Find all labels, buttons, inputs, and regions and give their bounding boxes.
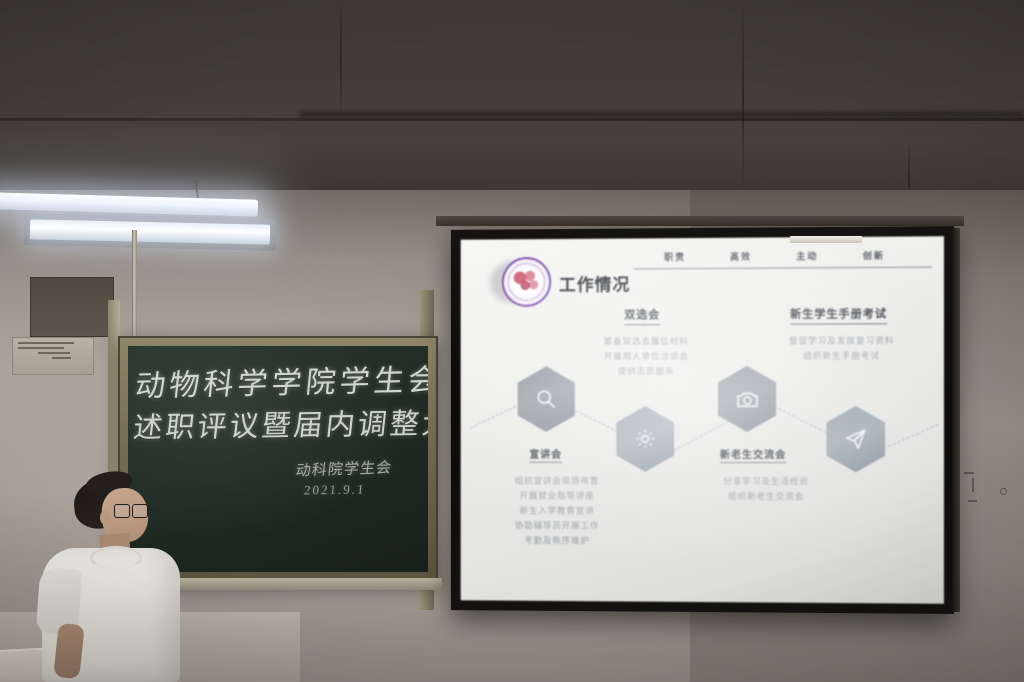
process-step-1-hex (518, 366, 575, 432)
slide-section-line: 开展就业指导讲座 (490, 488, 624, 503)
process-step-2-hex (616, 406, 674, 472)
presenter-collar (90, 546, 142, 570)
slide-process-row (461, 236, 944, 604)
wall-tick-mark (964, 472, 974, 474)
slide-lower-body-xinlaosheng: 分享学习及生活经验 组织新老生交流会 (698, 474, 835, 504)
process-step-4-hex (826, 406, 885, 472)
blackboard-title-line-1: 动物科学学院学生会 (133, 355, 428, 405)
wall-mark-dot (1000, 488, 1007, 495)
slide-section-line: 协助辅导员开展工作 (490, 518, 624, 533)
projection-screen-surface: 工作情况 职责 高效 主动 创新 双选会 筹备双选会展位材料 开展用人单位洽谈会… (461, 236, 944, 604)
blackboard-signature: 动科院学生会 (294, 456, 393, 480)
blackboard-title-line-2: 述职评议暨届内调整大会 (131, 400, 428, 447)
notice-text-line (52, 357, 72, 359)
slide-section-line: 考勤及秩序维护 (490, 533, 624, 549)
magnifier-icon (534, 387, 558, 411)
gear-icon (633, 427, 657, 451)
standing-presenter (28, 476, 198, 682)
slide-step-label-xinlaosheng: 新老生交流会 (720, 446, 786, 463)
projection-screen-bezel: 工作情况 职责 高效 主动 创新 双选会 筹备双选会展位材料 开展用人单位洽谈会… (451, 226, 954, 614)
ceiling-beam-shadow (300, 110, 1024, 119)
wall-notice-paper (12, 337, 94, 375)
notice-text-line (38, 352, 70, 354)
presenter-glasses (114, 504, 148, 517)
presenter-ear (100, 510, 111, 525)
slide-section-line: 组织新老生交流会 (698, 489, 835, 504)
slide-step-label-xuanjianghui: 宣讲会 (529, 446, 562, 463)
classroom-photo-scene: 动物科学学院学生会 述职评议暨届内调整大会 动科院学生会 2021.9.1 工作… (0, 0, 1024, 682)
projector-screen-rail (436, 216, 964, 226)
paper-plane-icon (844, 427, 868, 451)
process-connector-dash (879, 424, 939, 452)
camera-icon (734, 386, 759, 411)
notice-text-line (18, 342, 74, 344)
notice-text-line (18, 347, 64, 349)
wall-seam-vertical-left (340, 0, 342, 120)
upper-wall (0, 0, 1024, 196)
wall-mounted-control-box (30, 277, 114, 337)
presentation-slide: 工作情况 职责 高效 主动 创新 双选会 筹备双选会展位材料 开展用人单位洽谈会… (461, 236, 944, 604)
screen-right-dark-edge (952, 228, 960, 612)
projector-screen-top-highlight (790, 236, 862, 243)
slide-section-line: 新生入学教育宣讲 (490, 503, 624, 518)
slide-section-line: 分享学习及生活经验 (698, 474, 835, 489)
wall-tick-mark (968, 500, 977, 502)
blackboard-date: 2021.9.1 (303, 481, 366, 498)
slide-section-line: 组织宣讲会现场布置 (490, 474, 624, 489)
slide-lower-body-xuanjianghui: 组织宣讲会现场布置 开展就业指导讲座 新生入学教育宣讲 协助辅导员开展工作 考勤… (490, 474, 624, 549)
wall-tick-mark (972, 478, 974, 492)
wall-seam-vertical-right (742, 0, 744, 196)
